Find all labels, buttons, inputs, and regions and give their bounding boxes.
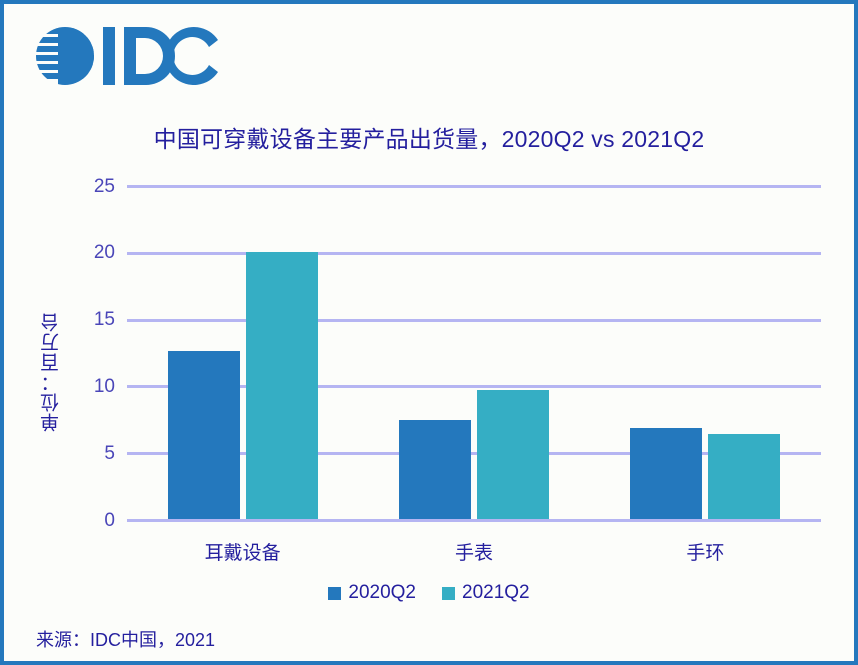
chart-title: 中国可穿戴设备主要产品出货量，2020Q2 vs 2021Q2 bbox=[4, 120, 854, 154]
source-note: 来源：IDC中国，2021 bbox=[36, 626, 215, 652]
y-axis-tick-label: 5 bbox=[104, 443, 115, 465]
bar-2020Q2-耳戴设备 bbox=[168, 351, 240, 519]
idc-logo bbox=[32, 20, 232, 92]
legend-label: 2020Q2 bbox=[348, 582, 416, 604]
bar-2020Q2-手表 bbox=[399, 420, 471, 519]
bar-group-container bbox=[127, 185, 821, 519]
x-axis-tick-label: 手表 bbox=[455, 538, 493, 565]
y-axis-tick-label: 0 bbox=[104, 510, 115, 532]
legend-swatch-icon bbox=[328, 587, 341, 600]
plot-area: 0510152025 耳戴设备手表手环 bbox=[127, 185, 821, 519]
chart-page: 中国可穿戴设备主要产品出货量，2020Q2 vs 2021Q2 单位：百万台 0… bbox=[0, 0, 858, 665]
bar-2020Q2-手环 bbox=[630, 428, 702, 519]
legend-swatch-icon bbox=[442, 587, 455, 600]
y-axis-tick-label: 10 bbox=[94, 376, 115, 398]
bar-2021Q2-手表 bbox=[477, 390, 549, 519]
bar-2021Q2-手环 bbox=[708, 434, 780, 519]
y-axis-label: 单位：百万台 bbox=[38, 272, 68, 472]
legend-item-2021Q2[interactable]: 2021Q2 bbox=[442, 582, 530, 604]
legend-label: 2021Q2 bbox=[462, 582, 530, 604]
legend-item-2020Q2[interactable]: 2020Q2 bbox=[328, 582, 416, 604]
chart-legend: 2020Q22021Q2 bbox=[4, 582, 854, 604]
gridline: 0 bbox=[127, 519, 821, 522]
x-axis-tick-label: 耳戴设备 bbox=[205, 538, 281, 565]
y-axis-tick-label: 20 bbox=[94, 242, 115, 264]
y-axis-tick-label: 25 bbox=[94, 176, 115, 198]
bar-2021Q2-耳戴设备 bbox=[246, 252, 318, 519]
y-axis-tick-label: 15 bbox=[94, 309, 115, 331]
x-axis-tick-label: 手环 bbox=[686, 538, 724, 565]
